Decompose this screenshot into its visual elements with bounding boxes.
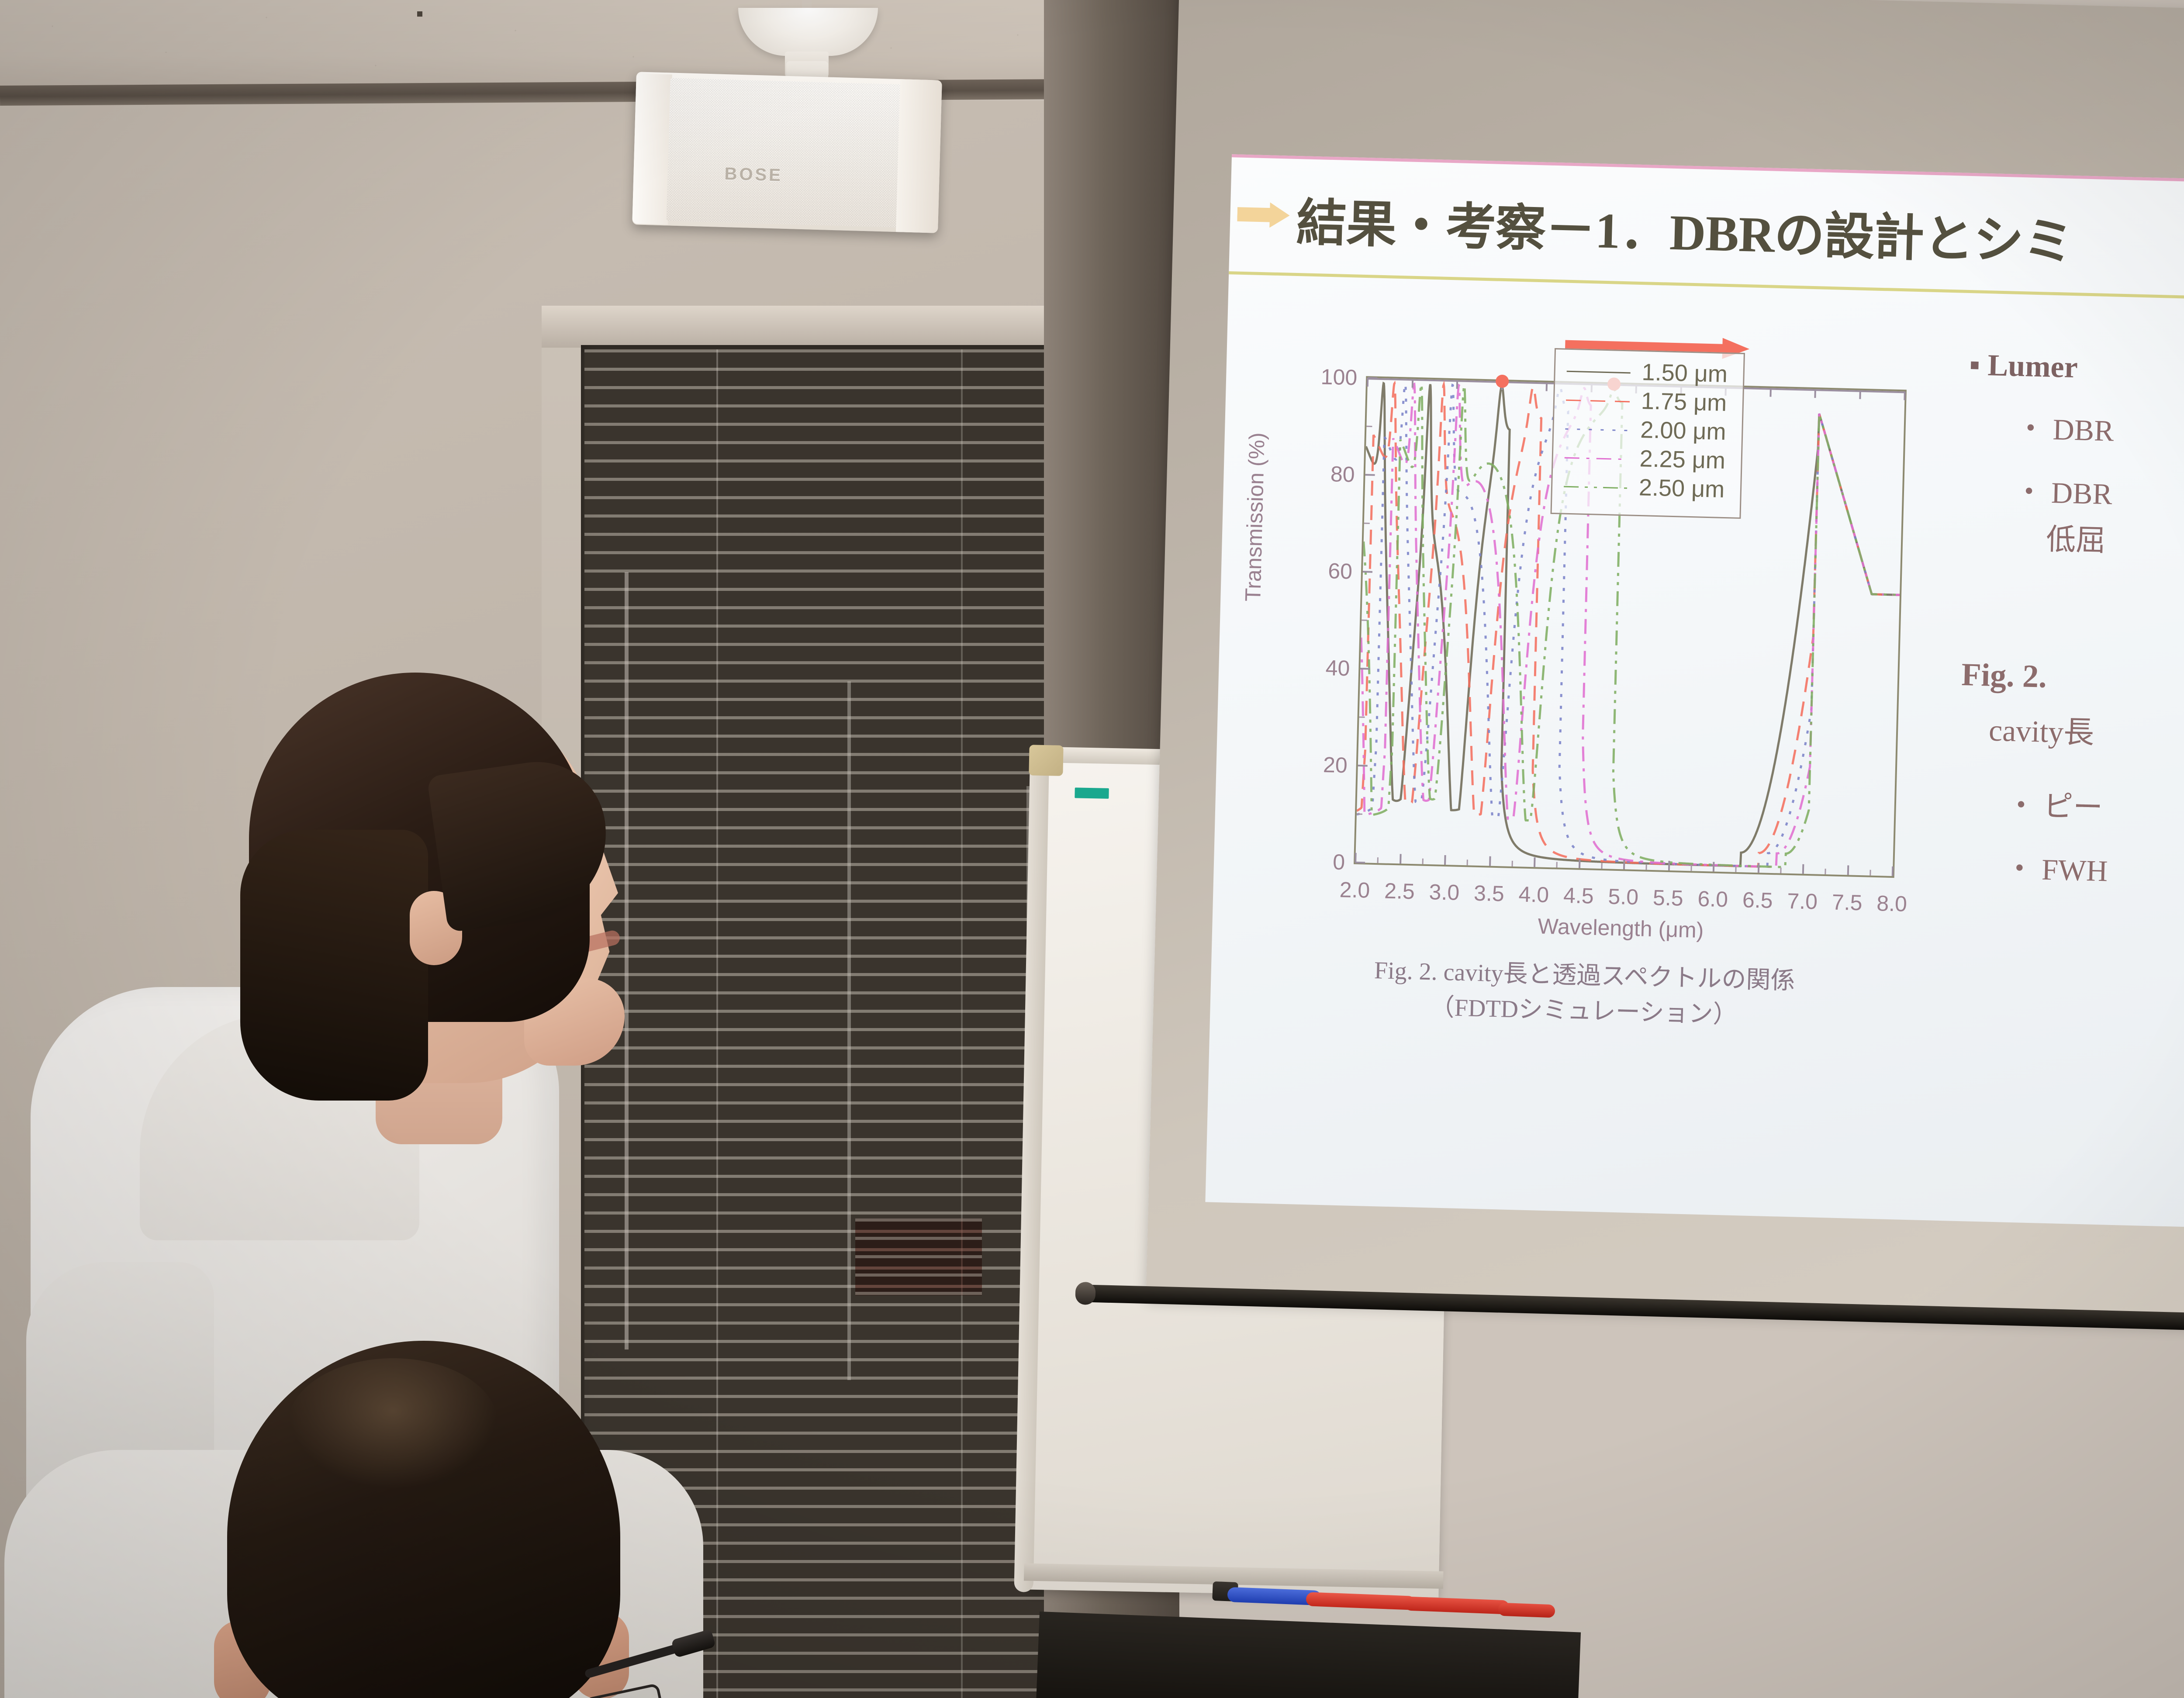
right-bullet-3: ・ FWH: [2004, 844, 2184, 894]
slide-right-column: ▪ Lumer ・ DBR ・ DBR 低屈 Fig. 2. cavity長 ・…: [1956, 348, 2184, 894]
legend-line-swatch: [1565, 397, 1631, 403]
blind-cord[interactable]: [847, 681, 851, 1380]
chart-x-minor-tick: [1467, 859, 1468, 865]
chart-legend: 1.50 μm1.75 μm2.00 μm2.25 μm2.50 μm: [1550, 348, 1745, 519]
ceiling-texture: [0, 0, 1179, 93]
chart-x-tick-mark: [1489, 856, 1491, 866]
legend-label: 2.00 μm: [1640, 416, 1727, 445]
chart-x-minor-tick: [1690, 865, 1692, 871]
chart-x-tick-mark-top: [1411, 379, 1413, 388]
chart-x-minor-tick: [1511, 861, 1513, 866]
chart-x-tick-mark: [1444, 855, 1446, 865]
legend-label: 1.50 μm: [1641, 359, 1728, 388]
legend-line-swatch: [1563, 484, 1628, 489]
right-sub-2: ・ DBR: [2014, 467, 2184, 518]
right-sub-2b: 低屈: [2046, 515, 2184, 564]
chart-y-minor-tick: [1357, 813, 1362, 814]
chart-x-tick-label: 6.0: [1697, 871, 1729, 912]
chart-y-tick-mark: [1368, 377, 1377, 379]
whiteboard-sticker: [1075, 787, 1109, 798]
chart-x-minor-tick: [1646, 864, 1647, 870]
audience-hair-highlight: [288, 1358, 498, 1489]
figure-caption: Fig. 2. cavity長と透過スペクトルの関係 （FDTDシミュレーション…: [1236, 949, 1932, 1038]
chart-x-minor-tick: [1601, 863, 1602, 869]
chart-x-axis-label: Wavelength (μm): [1352, 909, 1890, 948]
projection-screen-area: 結果・考察－1．DBRの設計とシミ Transmission (%) Wavel…: [1145, 0, 2184, 1364]
legend-item: 1.50 μm: [1555, 355, 1744, 389]
chart-x-tick-mark: [1623, 859, 1625, 869]
lower-dark-panel: [1036, 1612, 1581, 1698]
chart-y-tick-mark: [1358, 765, 1368, 767]
chart-x-tick-label: 5.0: [1608, 869, 1639, 910]
marker-red[interactable]: [1404, 1596, 1509, 1614]
chart-x-tick-mark: [1847, 865, 1849, 875]
legend-label: 1.75 μm: [1641, 387, 1727, 417]
speaker-grille: [666, 78, 902, 228]
right-bullet-2: ・ ピー: [2006, 781, 2184, 831]
person-audience: [188, 1341, 690, 1698]
chart-x-tick-mark: [1534, 857, 1536, 867]
photo-scene: BOSE 結果・考察－1．DBRの設計とシミ: [0, 0, 2184, 1698]
chart-x-minor-tick: [1422, 859, 1423, 864]
marker-red[interactable]: [1498, 1603, 1555, 1618]
presenter-hair-side: [240, 830, 428, 1101]
chart-x-tick-mark-top: [1769, 388, 1772, 397]
right-bullet-1: ▪ Lumer: [1969, 348, 2184, 391]
chart-x-tick-mark-top: [1367, 378, 1369, 387]
chart-x-tick-label: 6.5: [1742, 872, 1773, 913]
chart-x-tick-mark-top: [1456, 380, 1458, 389]
title-arrow-icon: [1237, 202, 1290, 228]
chart-x-tick-label: 3.5: [1473, 866, 1505, 907]
right-sub-1: ・ DBR: [2015, 404, 2184, 454]
figure-block: Transmission (%) Wavelength (μm) 0204060…: [1237, 317, 1948, 1015]
chart-x-tick-label: 7.0: [1787, 873, 1818, 915]
ceiling-screw: [417, 11, 422, 17]
chart-x-tick-mark-top: [1904, 391, 1906, 400]
legend-label: 2.50 μm: [1638, 474, 1725, 503]
blind-seam: [716, 349, 718, 1698]
screen-bottom-bar-cap: [1075, 1282, 1095, 1305]
ceiling-speaker: BOSE: [632, 72, 942, 233]
chart-x-minor-tick: [1377, 857, 1379, 863]
chart-y-minor-tick: [1362, 620, 1367, 621]
right-fig-head: Fig. 2.: [1961, 656, 2184, 702]
chart-y-axis-label: Transmission (%): [1240, 425, 1270, 609]
chart-x-tick-mark: [1578, 859, 1580, 868]
right-fig-head2: cavity長: [1988, 705, 2184, 757]
chart-x-minor-tick: [1780, 867, 1781, 873]
chart-x-tick-label: 4.5: [1563, 868, 1594, 909]
chart-x-tick-mark: [1355, 853, 1357, 863]
legend-line-swatch: [1566, 369, 1631, 374]
chart-y-tick-label: 80: [1330, 461, 1365, 487]
chart-y-tick-mark: [1360, 668, 1370, 670]
slide-title: 結果・考察－1．DBRの設計とシミ: [1296, 182, 2074, 274]
chart-x-tick-mark: [1892, 866, 1894, 876]
chart-x-minor-tick: [1870, 870, 1871, 876]
chart-y-tick-mark: [1363, 571, 1372, 573]
chart-x-minor-tick: [1735, 866, 1737, 872]
legend-line-swatch: [1564, 426, 1630, 431]
legend-label: 2.25 μm: [1639, 445, 1726, 474]
chart-x-tick-mark: [1400, 854, 1402, 863]
chart-x-tick-mark-top: [1546, 383, 1548, 391]
chart-x-tick-label: 5.5: [1652, 870, 1684, 911]
legend-line-swatch: [1564, 455, 1629, 460]
presentation-slide: 結果・考察－1．DBRの設計とシミ Transmission (%) Wavel…: [1205, 154, 2184, 1229]
door-sign-blind-overlay: [855, 1218, 982, 1295]
chart-x-tick-mark: [1713, 862, 1715, 872]
chart-y-tick-label: 20: [1323, 752, 1358, 778]
speaker-edge-left: [632, 73, 672, 224]
chart-x-minor-tick: [1825, 869, 1826, 874]
chart-y-tick-mark: [1365, 474, 1375, 476]
chart-y-minor-tick: [1366, 426, 1372, 427]
chart-x-minor-tick: [1556, 862, 1558, 867]
chart-x-tick-label: 2.5: [1384, 863, 1416, 904]
chart-x-tick-mark: [1668, 861, 1670, 870]
chart-x-tick-label: 7.5: [1832, 874, 1863, 915]
blind-seam: [961, 349, 963, 1698]
chart-x-tick-mark: [1757, 863, 1759, 873]
chart-x-tick-label: 8.0: [1876, 876, 1908, 917]
chart-x-tick-label: 2.0: [1339, 862, 1371, 903]
whiteboard-corner-bracket: [1029, 745, 1063, 776]
chart-x-tick-label: 4.0: [1518, 866, 1550, 908]
chart-x-tick-mark-top: [1814, 389, 1816, 398]
speaker-brand-logo: BOSE: [724, 164, 783, 186]
legend-item: 2.25 μm: [1553, 442, 1742, 476]
legend-item: 2.00 μm: [1554, 413, 1742, 447]
legend-item: 1.75 μm: [1554, 384, 1743, 418]
chart-y-minor-tick: [1364, 523, 1370, 524]
chart-y-tick-label: 60: [1328, 558, 1363, 584]
speaker-edge-right: [896, 79, 942, 233]
chart-x-tick-label: 3.0: [1429, 864, 1460, 905]
chart-x-tick-mark: [1802, 864, 1804, 874]
slide-title-row: 結果・考察－1．DBRの設計とシミ: [1229, 173, 2184, 283]
chart-y-tick-label: 40: [1325, 655, 1361, 681]
chart-y-minor-tick: [1359, 716, 1365, 718]
chart-x-tick-mark-top: [1859, 390, 1861, 399]
chart-y-tick-label: 100: [1320, 364, 1368, 390]
legend-item: 2.50 μm: [1552, 471, 1741, 504]
